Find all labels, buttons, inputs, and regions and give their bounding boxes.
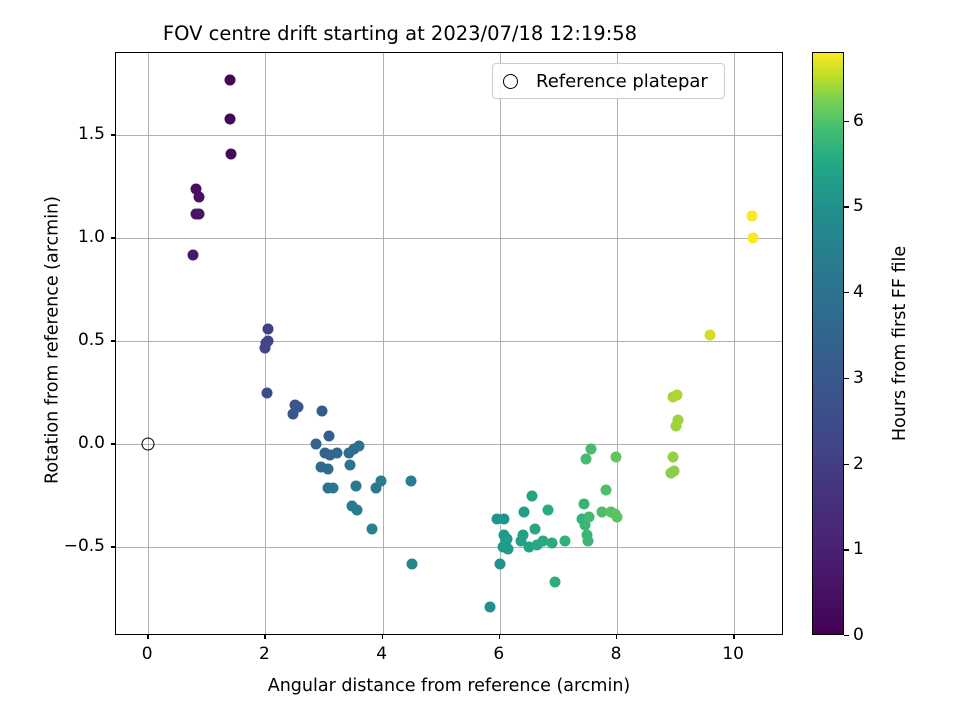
y-axis-tick: [111, 340, 115, 341]
scatter-point: [194, 208, 205, 219]
scatter-point: [746, 210, 757, 221]
page-title: FOV centre drift starting at 2023/07/18 …: [0, 22, 800, 45]
x-axis-tick-label: 6: [493, 644, 504, 664]
scatter-point: [550, 577, 561, 588]
colorbar-tick: [844, 292, 849, 293]
y-axis-tick-label: 0.5: [23, 330, 105, 350]
x-axis-tick-label: 8: [611, 644, 622, 664]
scatter-point: [406, 558, 417, 569]
colorbar-tick: [844, 635, 849, 636]
gridline-horizontal: [116, 238, 782, 239]
scatter-point: [345, 460, 356, 471]
scatter-point: [225, 74, 236, 85]
scatter-point: [668, 466, 679, 477]
y-axis-tick-label: 1.5: [23, 124, 105, 144]
colorbar-tick-label: 5: [853, 196, 864, 216]
colorbar-tick: [844, 378, 849, 379]
scatter-point: [543, 505, 554, 516]
scatter-point: [579, 499, 590, 510]
y-axis-tick-label: 1.0: [23, 227, 105, 247]
scatter-point: [225, 148, 236, 159]
colorbar-tick-label: 1: [853, 539, 864, 559]
colorbar-tick: [844, 549, 849, 550]
y-axis-tick-label: −0.5: [23, 536, 105, 556]
gridline-horizontal: [116, 444, 782, 445]
scatter-point: [259, 342, 270, 353]
scatter-point: [583, 511, 594, 522]
x-axis-tick-label: 4: [376, 644, 387, 664]
colorbar: 0123456: [812, 52, 844, 635]
scatter-point: [667, 451, 678, 462]
scatter-point: [224, 113, 235, 124]
x-axis-tick: [147, 635, 148, 639]
scatter-point: [585, 443, 596, 454]
scatter-point: [527, 490, 538, 501]
x-axis-tick-label: 0: [142, 644, 153, 664]
scatter-point: [261, 387, 272, 398]
scatter-point: [546, 538, 557, 549]
x-axis-tick: [733, 635, 734, 639]
colorbar-tick: [844, 206, 849, 207]
scatter-point: [351, 480, 362, 491]
colorbar-tick-label: 4: [853, 282, 864, 302]
figure-canvas: FOV centre drift starting at 2023/07/18 …: [0, 0, 960, 720]
colorbar-gradient: [812, 52, 844, 635]
colorbar-tick: [844, 464, 849, 465]
x-axis-tick: [616, 635, 617, 639]
x-axis-label: Angular distance from reference (arcmin): [115, 676, 783, 696]
colorbar-tick-label: 2: [853, 454, 864, 474]
scatter-point: [323, 431, 334, 442]
scatter-point: [331, 447, 342, 458]
scatter-point: [328, 482, 339, 493]
scatter-point: [354, 441, 365, 452]
x-axis-tick-label: 2: [259, 644, 270, 664]
x-axis-tick-label: 10: [722, 644, 744, 664]
reference-platepar-point: [142, 438, 155, 451]
scatter-point: [747, 233, 758, 244]
y-axis-tick-label: 0.0: [23, 433, 105, 453]
scatter-point: [193, 192, 204, 203]
gridline-horizontal: [116, 547, 782, 548]
scatter-point: [519, 507, 530, 518]
x-axis-tick: [382, 635, 383, 639]
scatter-point: [495, 558, 506, 569]
scatter-point: [601, 484, 612, 495]
scatter-point: [612, 511, 623, 522]
y-axis-tick: [111, 237, 115, 238]
legend-item-label: Reference platepar: [536, 71, 712, 92]
scatter-point: [610, 451, 621, 462]
scatter-point: [323, 464, 334, 475]
gridline-horizontal: [116, 135, 782, 136]
scatter-point: [367, 523, 378, 534]
y-axis-tick: [111, 546, 115, 547]
scatter-point: [317, 406, 328, 417]
scatter-point: [352, 505, 363, 516]
legend: Reference platepar: [492, 63, 725, 99]
scatter-point: [672, 414, 683, 425]
scatter-point: [405, 476, 416, 487]
gridline-horizontal: [116, 341, 782, 342]
plot-area: [115, 52, 783, 635]
scatter-point: [187, 249, 198, 260]
colorbar-tick-label: 0: [853, 625, 864, 645]
scatter-point: [498, 513, 509, 524]
scatter-point: [484, 602, 495, 613]
x-axis-tick: [499, 635, 500, 639]
scatter-point: [287, 408, 298, 419]
reference-platepar-marker-icon: [503, 74, 518, 89]
scatter-point: [560, 536, 571, 547]
scatter-point: [500, 536, 511, 547]
colorbar-tick-label: 6: [853, 111, 864, 131]
scatter-point: [704, 330, 715, 341]
scatter-point: [263, 324, 274, 335]
y-axis-tick: [111, 134, 115, 135]
scatter-point: [582, 536, 593, 547]
colorbar-label: Hours from first FF file: [890, 52, 910, 635]
scatter-point: [529, 523, 540, 534]
scatter-point: [580, 453, 591, 464]
scatter-point: [375, 476, 386, 487]
colorbar-tick: [844, 121, 849, 122]
x-axis-tick: [264, 635, 265, 639]
colorbar-tick-label: 3: [853, 368, 864, 388]
scatter-point: [672, 389, 683, 400]
y-axis-tick: [111, 443, 115, 444]
